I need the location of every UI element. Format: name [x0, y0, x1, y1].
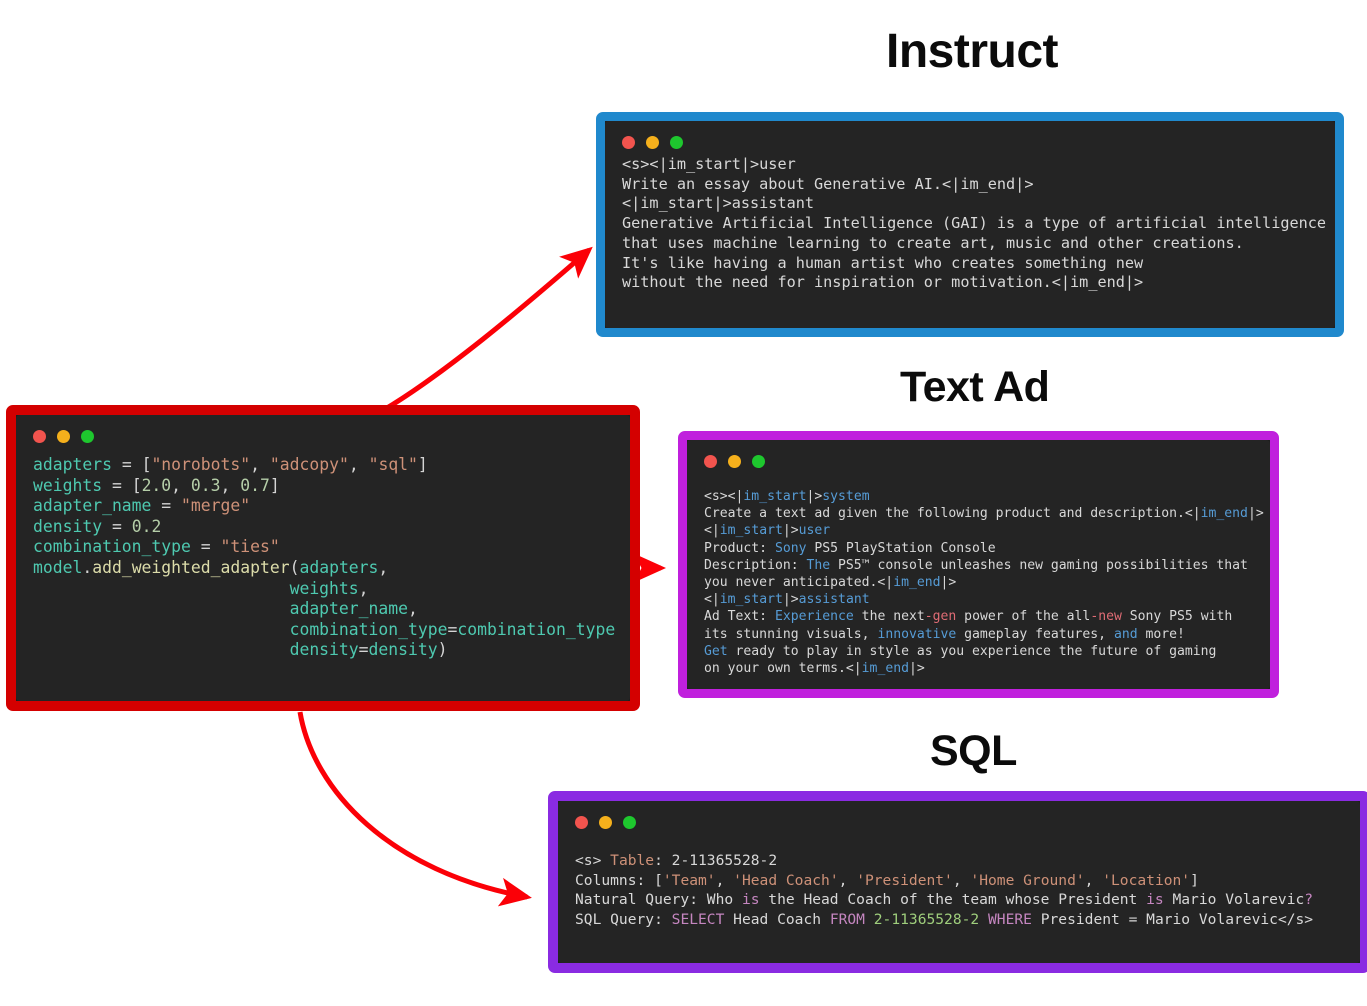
arrow-code-to-sql	[300, 712, 527, 897]
window-traffic-lights	[622, 135, 1318, 149]
minimize-dot-icon[interactable]	[728, 455, 741, 468]
maximize-dot-icon[interactable]	[752, 455, 765, 468]
window-body: adapters = ["norobots", "adcopy", "sql"]…	[16, 415, 630, 701]
sql-sample-window: <s> Table: 2-11365528-2 Columns: ['Team'…	[548, 791, 1367, 973]
close-dot-icon[interactable]	[575, 816, 588, 829]
instruct-code-block: <s><|im_start|>user Write an essay about…	[622, 155, 1318, 293]
window-body: <s> Table: 2-11365528-2 Columns: ['Team'…	[558, 801, 1360, 963]
instruct-sample-window: <s><|im_start|>user Write an essay about…	[596, 112, 1344, 337]
close-dot-icon[interactable]	[704, 455, 717, 468]
window-body: <s><|im_start|>system Create a text ad g…	[687, 440, 1270, 689]
window-traffic-lights	[704, 454, 1253, 468]
maximize-dot-icon[interactable]	[670, 136, 683, 149]
close-dot-icon[interactable]	[33, 430, 46, 443]
sql-code-block: <s> Table: 2-11365528-2 Columns: ['Team'…	[575, 851, 1343, 929]
window-body: <s><|im_start|>user Write an essay about…	[605, 121, 1335, 328]
merge-code-block: adapters = ["norobots", "adcopy", "sql"]…	[33, 455, 613, 661]
merge-code-window: adapters = ["norobots", "adcopy", "sql"]…	[6, 405, 640, 711]
maximize-dot-icon[interactable]	[81, 430, 94, 443]
window-traffic-lights	[575, 815, 1343, 829]
maximize-dot-icon[interactable]	[623, 816, 636, 829]
close-dot-icon[interactable]	[622, 136, 635, 149]
window-traffic-lights	[33, 429, 613, 443]
arrow-code-to-instruct	[382, 250, 589, 411]
text-ad-sample-window: <s><|im_start|>system Create a text ad g…	[678, 431, 1279, 698]
section-title-text-ad: Text Ad	[900, 366, 1049, 409]
text-ad-code-block: <s><|im_start|>system Create a text ad g…	[704, 488, 1253, 677]
section-title-instruct: Instruct	[886, 28, 1058, 76]
minimize-dot-icon[interactable]	[57, 430, 70, 443]
minimize-dot-icon[interactable]	[599, 816, 612, 829]
minimize-dot-icon[interactable]	[646, 136, 659, 149]
section-title-sql: SQL	[930, 730, 1017, 773]
